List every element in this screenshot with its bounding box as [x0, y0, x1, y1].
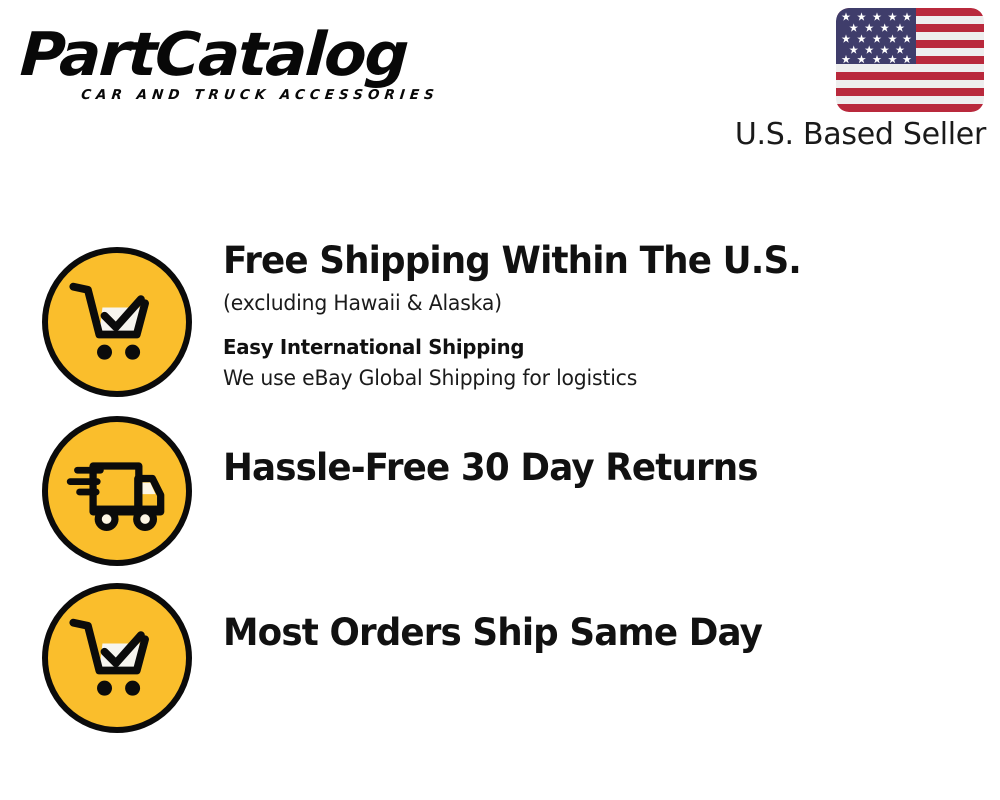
brand-tagline: CAR AND TRUCK ACCESSORIES [80, 87, 492, 103]
us-based-seller-label: U.S. Based Seller [716, 118, 986, 152]
feature-subtitle-strong: Easy International Shipping [223, 332, 969, 363]
feature-subtitle-note: (excluding Hawaii & Alaska) [223, 288, 977, 318]
flag-wrap [836, 8, 984, 112]
shopping-cart-check-icon [65, 270, 169, 374]
feature-text-column: Free Shipping Within The U.S. (excluding… [192, 225, 1000, 393]
delivery-truck-icon [65, 439, 169, 543]
us-based-seller-badge: U.S. Based Seller [716, 8, 986, 152]
feature-title: Hassle-Free 30 Day Returns [223, 446, 973, 490]
feature-row: Free Shipping Within The U.S. (excluding… [0, 225, 1000, 400]
feature-icon-badge [42, 583, 192, 733]
brand-wordmark: PartCatalog [19, 24, 506, 86]
feature-icon-badge [42, 247, 192, 397]
feature-title: Free Shipping Within The U.S. [223, 239, 973, 283]
brand-logo[interactable]: PartCatalog CAR AND TRUCK ACCESSORIES [22, 24, 492, 116]
us-flag-icon [836, 8, 984, 112]
feature-row: Most Orders Ship Same Day [0, 568, 1000, 743]
shopping-cart-check-icon [65, 606, 169, 710]
feature-row: Hassle-Free 30 Day Returns [0, 397, 1000, 569]
feature-text-column: Hassle-Free 30 Day Returns [192, 397, 1000, 490]
feature-text-column: Most Orders Ship Same Day [192, 568, 1000, 655]
feature-title: Most Orders Ship Same Day [223, 611, 973, 655]
feature-subtitle-detail: We use eBay Global Shipping for logistic… [223, 363, 977, 393]
feature-icon-badge [42, 416, 192, 566]
header-bar: PartCatalog CAR AND TRUCK ACCESSORIES [0, 0, 1000, 170]
